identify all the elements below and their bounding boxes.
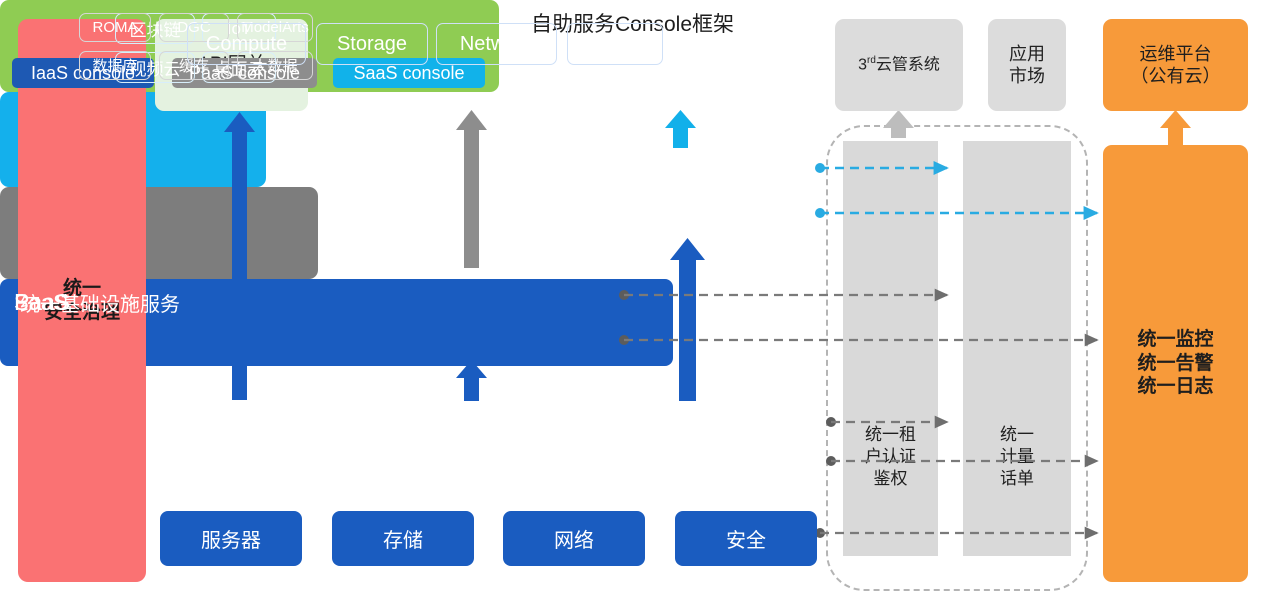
app-market-line-1: 应用 bbox=[1009, 43, 1045, 66]
third-party-rest: 云管系统 bbox=[876, 56, 940, 73]
unified-infrastructure-service-box[interactable]: 统一基础设施服务 Compute Storage Network CCE bbox=[0, 279, 673, 366]
ops-top-line-1: 运维平台 bbox=[1131, 43, 1221, 66]
arrow-paas-to-console bbox=[456, 110, 487, 268]
third-party-sup: rd bbox=[867, 55, 876, 66]
column-billing-caption: 统一 计量 话单 bbox=[963, 424, 1071, 490]
auth-line-1: 统一租 bbox=[843, 424, 938, 446]
ops-top-line-2: （公有云） bbox=[1131, 65, 1221, 88]
column-auth-caption: 统一租 户认证 鉴权 bbox=[843, 424, 938, 490]
third-party-prefix: 3 bbox=[858, 56, 867, 73]
arrow-infra-to-paas bbox=[456, 360, 487, 401]
third-party-cloud-management-box[interactable]: 3rd云管系统 bbox=[835, 19, 963, 111]
column-unified-tenant-auth: 统一租 户认证 鉴权 bbox=[843, 141, 938, 556]
billing-line-2: 计量 bbox=[963, 446, 1071, 468]
infra-chip-cce[interactable]: CCE bbox=[567, 23, 663, 65]
billing-line-3: 话单 bbox=[963, 468, 1071, 490]
auth-line-2: 户认证 bbox=[843, 446, 938, 468]
auth-line-3: 鉴权 bbox=[843, 468, 938, 490]
infra-chip-storage[interactable]: Storage bbox=[316, 23, 428, 65]
ops-monitoring-alarm-log-panel[interactable]: 统一监控 统一告警 统一日志 bbox=[1103, 145, 1248, 582]
hardware-box-storage[interactable]: 存储 bbox=[332, 511, 474, 566]
arrow-ops-side-to-ops-top bbox=[1160, 110, 1191, 148]
app-market-line-2: 市场 bbox=[1009, 65, 1045, 88]
architecture-diagram: 统一租 户认证 鉴权 统一 计量 话单 bbox=[0, 0, 1265, 605]
unified-infrastructure-label: 统一基础设施服务 bbox=[20, 0, 180, 605]
hardware-box-security[interactable]: 安全 bbox=[675, 511, 817, 566]
hardware-box-network[interactable]: 网络 bbox=[503, 511, 645, 566]
ops-side-line-2: 统一告警 bbox=[1137, 352, 1213, 376]
ops-side-line-3: 统一日志 bbox=[1137, 375, 1213, 399]
ops-side-line-1: 统一监控 bbox=[1137, 328, 1213, 352]
app-market-box[interactable]: 应用 市场 bbox=[988, 19, 1066, 111]
infra-chip-compute[interactable]: Compute bbox=[187, 23, 306, 65]
arrow-saas-to-saas-console bbox=[665, 110, 696, 148]
ops-platform-public-cloud-box[interactable]: 运维平台 （公有云） bbox=[1103, 19, 1248, 111]
infra-chip-network[interactable]: Network bbox=[436, 23, 557, 65]
column-unified-billing: 统一 计量 话单 bbox=[963, 141, 1071, 556]
hardware-box-server[interactable]: 服务器 bbox=[160, 511, 302, 566]
billing-line-1: 统一 bbox=[963, 424, 1071, 446]
third-party-label: 3rd云管系统 bbox=[858, 55, 940, 75]
arrow-infra-to-saas bbox=[670, 238, 705, 401]
